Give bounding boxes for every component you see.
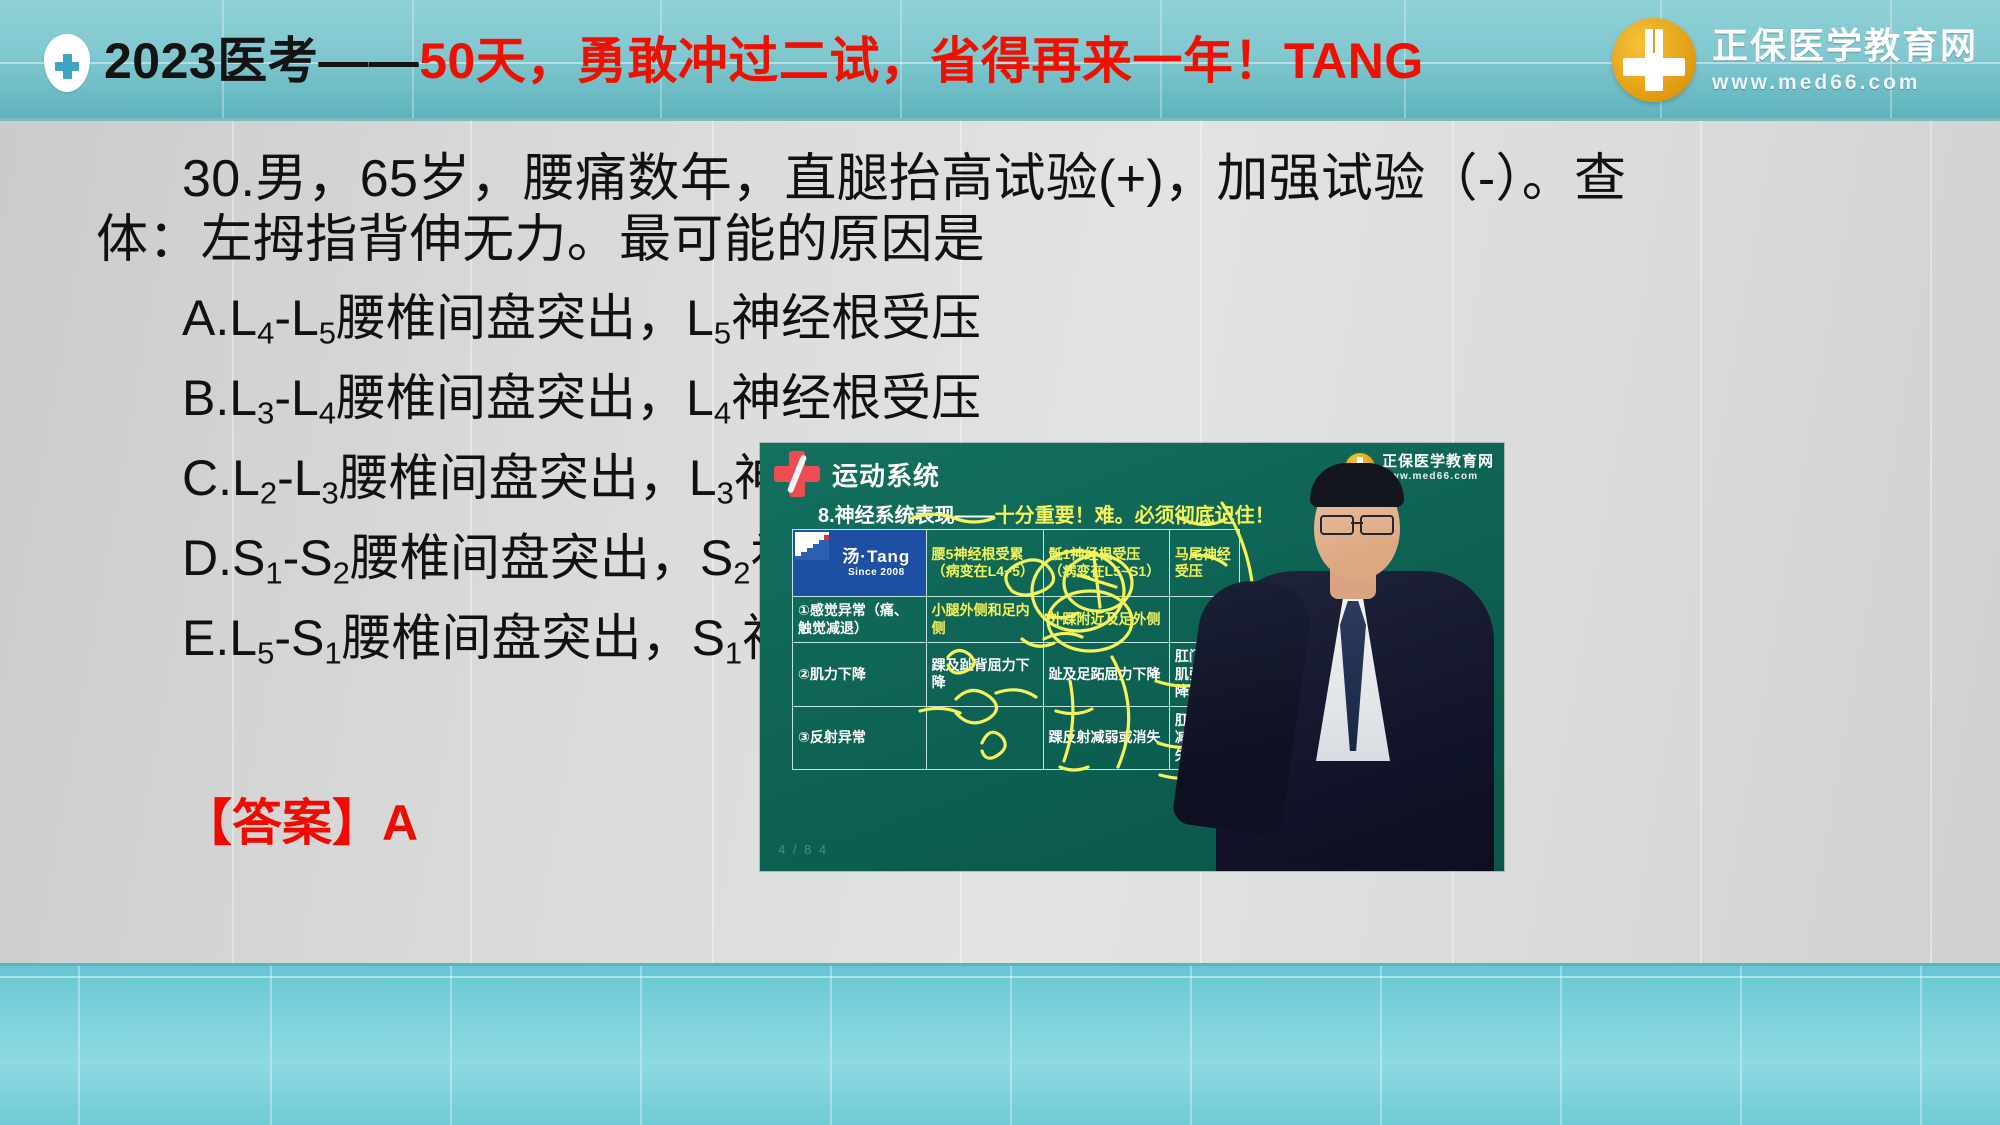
slide-content-area: 30.男，65岁，腰痛数年，直腿抬高试验(+)，加强试验（-）。查 体：左拇指背…	[0, 118, 2000, 966]
video-title-row: 运动系统	[774, 451, 940, 497]
video-title: 运动系统	[832, 456, 940, 493]
video-timer: 4 / 8 4	[778, 842, 828, 857]
tang-brand-cell: 汤·Tang Since 2008	[793, 530, 927, 597]
brand-logo: 正保医学教育网 www.med66.com	[1612, 14, 1978, 106]
cell-reflex-l5	[926, 706, 1043, 770]
cell-reflex-s1: 踝反射减弱或消失	[1043, 706, 1169, 770]
question-stem: 30.男，65岁，腰痛数年，直腿抬高试验(+)，加强试验（-）。查 体：左拇指背…	[96, 149, 1926, 271]
header-title-red: 50天，勇敢冲过二试，省得再来一年！TANG	[419, 33, 1424, 89]
brand-name: 正保医学教育网	[1712, 28, 1978, 64]
medical-cross-pin-icon	[44, 34, 90, 92]
col-header-l5: 腰5神经根受累（病变在L4~5）	[926, 530, 1043, 597]
nerve-root-table: 汤·Tang Since 2008 腰5神经根受累（病变在L4~5） 骶1神经根…	[792, 529, 1240, 770]
lecture-video-overlay[interactable]: 运动系统 正保医学教育网 www.med66.com 8.神经系统表现——十分重…	[760, 443, 1504, 871]
row-label-sensory: ①感觉异常（痛、触觉减退）	[793, 597, 927, 643]
cell-motor-l5: 踝及趾背屈力下降	[926, 643, 1043, 707]
glasses-icon	[1320, 515, 1394, 531]
red-cross-thermometer-icon	[774, 451, 820, 497]
presenter-figure	[1204, 443, 1504, 871]
cell-sensory-s1: 外踝附近及足外侧	[1043, 597, 1169, 643]
presentation-slide: 2023医考——50天，勇敢冲过二试，省得再来一年！TANG 正保医学教育网 w…	[0, 0, 2000, 1125]
table-row: ③反射异常 踝反射减弱或消失 肛门反射减弱或消失	[793, 706, 1240, 770]
table-row: ②肌力下降 踝及趾背屈力下降 趾及足跖屈力下降 肛门括约肌张力下降	[793, 643, 1240, 707]
cell-motor-s1: 趾及足跖屈力下降	[1043, 643, 1169, 707]
answer-value: A	[382, 795, 418, 851]
answer-label: 【答案】	[182, 795, 382, 851]
question-line-2: 体：左拇指背伸无力。最可能的原因是	[96, 210, 1926, 271]
slide-header-band: 2023医考——50天，勇敢冲过二试，省得再来一年！TANG 正保医学教育网 w…	[0, 0, 2000, 118]
row-label-reflex: ③反射异常	[793, 706, 927, 770]
question-line-1: 30.男，65岁，腰痛数年，直腿抬高试验(+)，加强试验（-）。查	[96, 149, 1926, 210]
option-b[interactable]: B.L3-L4腰椎间盘突出，L4神经根受压	[96, 373, 1396, 423]
row-label-motor: ②肌力下降	[793, 643, 927, 707]
header-title-black: 2023医考——	[104, 33, 419, 89]
med66-cross-logo-icon	[1612, 18, 1696, 102]
cell-sensory-l5: 小腿外侧和足内侧	[926, 597, 1043, 643]
col-header-s1: 骶1神经根受压（病变在L5~S1）	[1043, 530, 1169, 597]
table-header-row: 汤·Tang Since 2008 腰5神经根受累（病变在L4~5） 骶1神经根…	[793, 530, 1240, 597]
option-a[interactable]: A.L4-L5腰椎间盘突出，L5神经根受压	[96, 293, 1396, 343]
tang-brand-sub: Since 2008	[832, 567, 921, 580]
brand-url: www.med66.com	[1712, 72, 1978, 93]
slide-footer-band	[0, 963, 2000, 1125]
table-row: ①感觉异常（痛、触觉减退） 小腿外侧和足内侧 外踝附近及足外侧	[793, 597, 1240, 643]
header-title: 2023医考——50天，勇敢冲过二试，省得再来一年！TANG	[104, 36, 1424, 86]
answer-line: 【答案】A	[182, 783, 418, 855]
tang-brand-main: 汤·Tang	[832, 546, 921, 567]
